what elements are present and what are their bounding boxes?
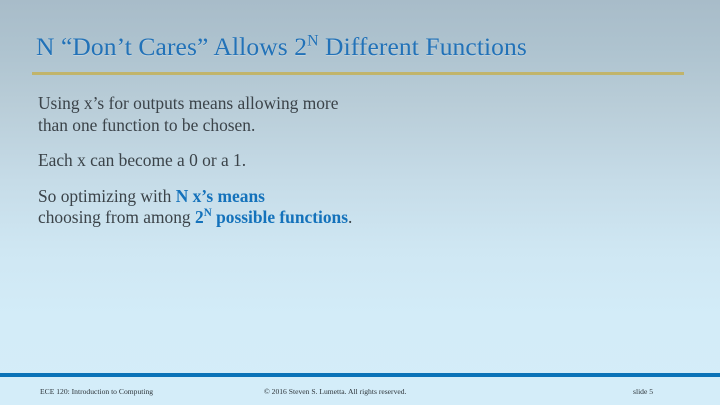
accent-base: 2 <box>195 207 204 227</box>
title-block: N “Don’t Cares” Allows 2N Different Func… <box>36 32 686 62</box>
title-divider-rule <box>32 72 684 75</box>
paragraph-3-line-2-accent: 2N possible functions <box>195 207 348 227</box>
page-title-superscript: N <box>307 33 319 50</box>
footer-course-label: ECE 120: Introduction to Computing <box>40 387 153 397</box>
paragraph-2-line-1: Each x can become a 0 or a 1. <box>38 150 246 170</box>
page-title: N “Don’t Cares” Allows 2N Different Func… <box>36 32 686 62</box>
body-paragraph-3: So optimizing with N x’s means choosing … <box>38 186 658 229</box>
accent-superscript: N <box>204 207 212 219</box>
paragraph-3-line-2-plain: choosing from among <box>38 207 195 227</box>
body-paragraph-2: Each x can become a 0 or a 1. <box>38 150 658 172</box>
paragraph-3-line-2-end: . <box>348 207 352 227</box>
paragraph-1-line-2: than one function to be chosen. <box>38 115 255 135</box>
paragraph-1-line-1: Using x’s for outputs means allowing mor… <box>38 93 338 113</box>
slide-footer: ECE 120: Introduction to Computing © 201… <box>0 377 720 405</box>
page-title-text-after: Different Functions <box>319 32 527 61</box>
body-paragraph-1: Using x’s for outputs means allowing mor… <box>38 93 658 136</box>
page-title-text-before: N “Don’t Cares” Allows 2 <box>36 32 307 61</box>
slide-canvas: N “Don’t Cares” Allows 2N Different Func… <box>0 0 720 405</box>
body-content: Using x’s for outputs means allowing mor… <box>38 93 658 229</box>
accent-rest: possible functions <box>212 207 348 227</box>
paragraph-3-line-1-plain: So optimizing with <box>38 186 176 206</box>
paragraph-3-line-1-accent: N x’s means <box>176 186 265 206</box>
footer-copyright-label: © 2016 Steven S. Lumetta. All rights res… <box>264 387 406 397</box>
footer-slide-number: slide 5 <box>633 387 653 397</box>
